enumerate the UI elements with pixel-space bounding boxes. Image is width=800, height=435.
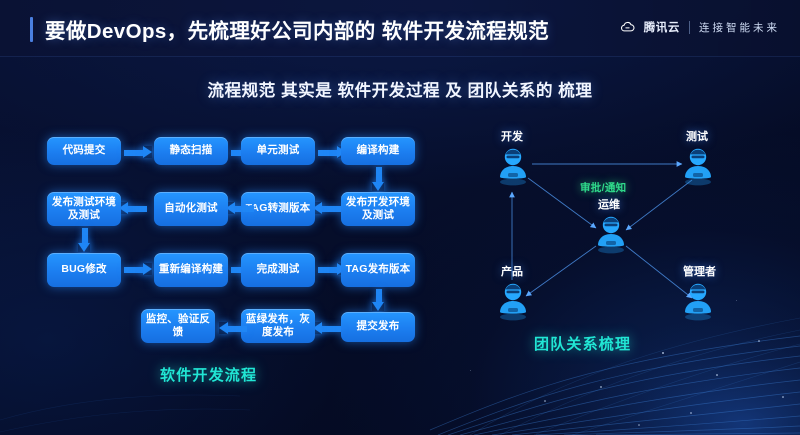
person-icon-manager bbox=[681, 281, 715, 321]
flow-arrow-1 bbox=[124, 146, 152, 159]
role-label-ops: 运维 bbox=[598, 196, 620, 212]
flow-node-submit-release[interactable]: 提交发布 bbox=[341, 312, 415, 342]
flow-arrow-8 bbox=[78, 228, 91, 252]
brand-name: 腾讯云 bbox=[644, 19, 680, 35]
person-icon-test bbox=[681, 146, 715, 186]
person-icon-product bbox=[496, 281, 530, 321]
flow-node-bluegreen-canary-release[interactable]: 蓝绿发布，灰度发布 bbox=[241, 309, 315, 343]
team-diagram-caption: 团队关系梳理 bbox=[534, 333, 631, 354]
person-icon-dev bbox=[496, 146, 530, 186]
flow-node-compile-build[interactable]: 编译构建 bbox=[341, 137, 415, 165]
flow-node-code-commit[interactable]: 代码提交 bbox=[47, 137, 121, 165]
flow-arrow-9 bbox=[124, 263, 152, 276]
flow-node-unit-test[interactable]: 单元测试 bbox=[241, 137, 315, 165]
flow-arrow-7 bbox=[119, 202, 147, 215]
flow-arrow-14 bbox=[219, 322, 247, 335]
flow-arrow-6 bbox=[226, 202, 254, 215]
edge-label-approval-notify: 审批/通知 bbox=[580, 180, 626, 195]
flow-node-release-test-env[interactable]: 发布测试环境及测试 bbox=[47, 192, 121, 226]
person-icon-ops bbox=[594, 214, 628, 254]
brand-logo-group: 腾讯云 连接智能未来 bbox=[620, 19, 780, 35]
team-relationship-diagram: 开发 测试 运维 产品 bbox=[470, 120, 800, 390]
flow-node-static-scan[interactable]: 静态扫描 bbox=[154, 137, 228, 165]
cloud-icon bbox=[620, 20, 635, 35]
flow-arrow-12 bbox=[372, 289, 385, 311]
brand-divider bbox=[689, 21, 690, 34]
flow-arrow-5 bbox=[313, 202, 341, 215]
role-label-manager: 管理者 bbox=[683, 263, 716, 279]
software-development-flowchart: 代码提交 静态扫描 单元测试 编译构建 发布开发环境 及测试 TAG转测版本 自… bbox=[0, 0, 460, 435]
brand-slogan: 连接智能未来 bbox=[699, 20, 780, 35]
role-label-product: 产品 bbox=[501, 263, 523, 279]
flow-node-bug-fix[interactable]: BUG修改 bbox=[47, 253, 121, 287]
slide-canvas: 要做DevOps，先梳理好公司内部的 软件开发流程规范 腾讯云 连接智能未来 流… bbox=[0, 0, 800, 435]
flow-node-automated-test[interactable]: 自动化测试 bbox=[154, 192, 228, 226]
flowchart-caption: 软件开发流程 bbox=[160, 364, 257, 385]
flow-arrow-13 bbox=[313, 322, 341, 335]
flow-node-monitor-verify-feedback[interactable]: 监控、验证反馈 bbox=[141, 309, 215, 343]
flow-arrow-4 bbox=[372, 167, 385, 191]
role-label-test: 测试 bbox=[686, 128, 708, 144]
flow-node-release-dev-env[interactable]: 发布开发环境 及测试 bbox=[341, 192, 415, 226]
flow-node-test-complete[interactable]: 完成测试 bbox=[241, 253, 315, 287]
role-label-dev: 开发 bbox=[501, 128, 523, 144]
flow-node-tag-release-version[interactable]: TAG发布版本 bbox=[341, 253, 415, 287]
flow-node-recompile-build[interactable]: 重新编译构建 bbox=[154, 253, 228, 287]
